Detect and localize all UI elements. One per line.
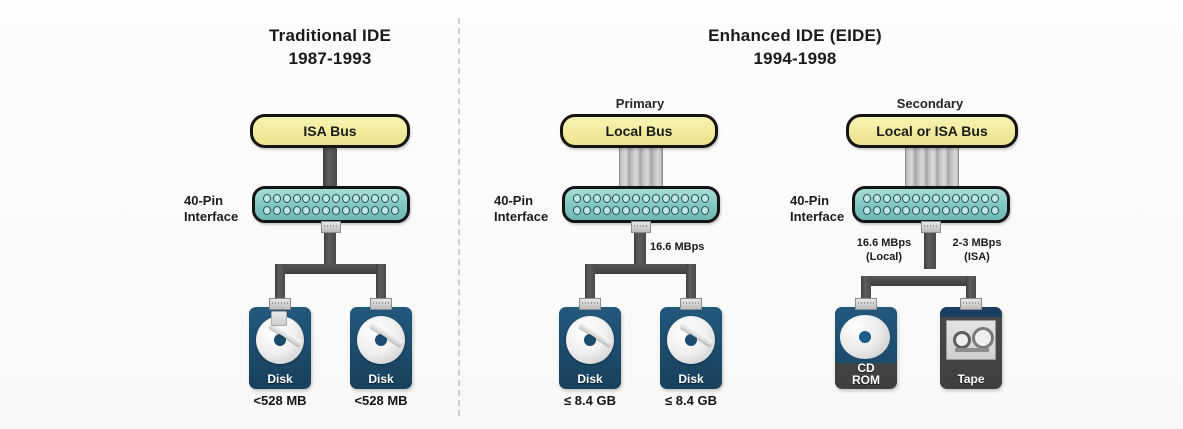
pin bbox=[952, 194, 960, 203]
pin bbox=[322, 194, 330, 203]
pin bbox=[573, 206, 581, 215]
pin-row-bottom bbox=[573, 206, 709, 215]
pin bbox=[293, 206, 301, 215]
cdrom-label-line2: ROM bbox=[835, 374, 897, 386]
primary-disk-1[interactable]: Disk bbox=[559, 307, 621, 389]
secondary-interface-label-line1: 40-Pin bbox=[790, 193, 844, 209]
pin bbox=[642, 206, 650, 215]
pin bbox=[893, 206, 901, 215]
left-disk-1-capacity: <528 MB bbox=[230, 393, 330, 408]
head-tab-icon bbox=[271, 311, 287, 326]
pin-row-bottom bbox=[263, 206, 399, 215]
pin bbox=[593, 206, 601, 215]
pin bbox=[283, 194, 291, 203]
pin bbox=[381, 194, 389, 203]
pin bbox=[273, 194, 281, 203]
pin bbox=[612, 194, 620, 203]
secondary-rate-isa: 2-3 MBps (ISA) bbox=[938, 236, 1016, 264]
primary-disk-1-label: Disk bbox=[559, 373, 621, 385]
pin bbox=[922, 206, 930, 215]
left-disk-1[interactable]: Disk bbox=[249, 307, 311, 389]
pin bbox=[662, 206, 670, 215]
pin bbox=[263, 206, 271, 215]
pin bbox=[662, 194, 670, 203]
pin bbox=[322, 206, 330, 215]
pin bbox=[863, 206, 871, 215]
secondary-interface-label: 40-Pin Interface bbox=[790, 193, 844, 225]
pin bbox=[312, 206, 320, 215]
pin bbox=[391, 206, 399, 215]
secondary-rate-isa-note: (ISA) bbox=[938, 250, 1016, 264]
pin bbox=[332, 194, 340, 203]
left-disk-1-label: Disk bbox=[249, 373, 311, 385]
pin bbox=[603, 206, 611, 215]
pin-row-top bbox=[263, 194, 399, 203]
panel-divider bbox=[458, 18, 460, 416]
primary-branch-cable bbox=[585, 264, 696, 274]
primary-interface-label-line2: Interface bbox=[494, 209, 548, 225]
left-disk1-connector bbox=[269, 298, 291, 310]
primary-40-pin-interface[interactable] bbox=[562, 186, 720, 223]
pin bbox=[981, 194, 989, 203]
tape-band bbox=[955, 348, 989, 352]
primary-disk1-connector bbox=[579, 298, 601, 310]
tape-cassette-icon bbox=[946, 320, 996, 360]
pin bbox=[863, 194, 871, 203]
left-disk-2[interactable]: Disk bbox=[350, 307, 412, 389]
tape-label: Tape bbox=[940, 373, 1002, 385]
secondary-channel-caption: Secondary bbox=[850, 96, 1010, 111]
pin bbox=[981, 206, 989, 215]
pin-row-top bbox=[863, 194, 999, 203]
pin bbox=[902, 206, 910, 215]
isa-bus-box[interactable]: ISA Bus bbox=[250, 114, 410, 148]
pin bbox=[961, 206, 969, 215]
pin-row-bottom bbox=[863, 206, 999, 215]
primary-interface-label: 40-Pin Interface bbox=[494, 193, 548, 225]
pin bbox=[293, 194, 301, 203]
cdrom-label: CD ROM bbox=[835, 362, 897, 386]
secondary-rate-isa-value: 2-3 MBps bbox=[938, 236, 1016, 250]
tape-reel-small-icon bbox=[953, 331, 971, 349]
left-interface-label-line1: 40-Pin bbox=[184, 193, 238, 209]
pin bbox=[652, 194, 660, 203]
pin bbox=[681, 206, 689, 215]
pin bbox=[573, 194, 581, 203]
secondary-branch-cable bbox=[861, 276, 976, 286]
right-panel-title-line2: 1994-1998 bbox=[630, 47, 960, 70]
primary-disk-1-capacity: ≤ 8.4 GB bbox=[540, 393, 640, 408]
pin bbox=[932, 194, 940, 203]
right-panel-title-line1: Enhanced IDE (EIDE) bbox=[630, 24, 960, 47]
left-disk-2-capacity: <528 MB bbox=[331, 393, 431, 408]
left-branch-cable bbox=[275, 264, 386, 274]
left-panel-title: Traditional IDE 1987-1993 bbox=[180, 24, 480, 70]
pin bbox=[902, 194, 910, 203]
pin bbox=[381, 206, 389, 215]
pin bbox=[622, 206, 630, 215]
left-panel-title-line1: Traditional IDE bbox=[180, 24, 480, 47]
primary-interface-connector bbox=[631, 221, 651, 233]
pin bbox=[371, 206, 379, 215]
pin bbox=[583, 194, 591, 203]
pin bbox=[691, 194, 699, 203]
pin bbox=[701, 194, 709, 203]
primary-interface-label-line1: 40-Pin bbox=[494, 193, 548, 209]
pin bbox=[671, 194, 679, 203]
pin bbox=[942, 206, 950, 215]
pin bbox=[681, 194, 689, 203]
pin bbox=[691, 206, 699, 215]
pin bbox=[632, 206, 640, 215]
secondary-rate-local: 16.6 MBps (Local) bbox=[845, 236, 923, 264]
pin bbox=[971, 194, 979, 203]
diagram-canvas: Traditional IDE 1987-1993 ISA Bus 40-Pin… bbox=[0, 0, 1183, 429]
secondary-interface-label-line2: Interface bbox=[790, 209, 844, 225]
left-interface-label: 40-Pin Interface bbox=[184, 193, 238, 225]
primary-disk-2[interactable]: Disk bbox=[660, 307, 722, 389]
tape-reel-large-icon bbox=[972, 327, 994, 349]
pin bbox=[302, 194, 310, 203]
cd-disc-icon bbox=[840, 315, 890, 359]
tape-device[interactable]: Tape bbox=[940, 307, 1002, 389]
pin bbox=[932, 206, 940, 215]
pin bbox=[622, 194, 630, 203]
right-panel-title: Enhanced IDE (EIDE) 1994-1998 bbox=[630, 24, 960, 70]
pin bbox=[273, 206, 281, 215]
pin bbox=[302, 206, 310, 215]
cdrom-device[interactable]: CD ROM bbox=[835, 307, 897, 389]
secondary-bus-label: Local or ISA Bus bbox=[876, 123, 988, 139]
pin bbox=[593, 194, 601, 203]
left-panel-title-line2: 1987-1993 bbox=[180, 47, 480, 70]
left-40-pin-interface[interactable] bbox=[252, 186, 410, 223]
pin bbox=[632, 194, 640, 203]
pin bbox=[583, 206, 591, 215]
pin bbox=[991, 206, 999, 215]
primary-channel-caption: Primary bbox=[560, 96, 720, 111]
secondary-bus-box[interactable]: Local or ISA Bus bbox=[846, 114, 1018, 148]
pin bbox=[391, 194, 399, 203]
pin bbox=[991, 194, 999, 203]
pin bbox=[361, 194, 369, 203]
pin bbox=[942, 194, 950, 203]
pin bbox=[912, 194, 920, 203]
isa-bus-label: ISA Bus bbox=[303, 123, 356, 139]
pin bbox=[312, 194, 320, 203]
pin bbox=[873, 194, 881, 203]
pin-row-top bbox=[573, 194, 709, 203]
primary-disk-2-capacity: ≤ 8.4 GB bbox=[641, 393, 741, 408]
secondary-trunk-cable bbox=[924, 231, 936, 269]
primary-bus-label: Local Bus bbox=[606, 123, 673, 139]
pin bbox=[352, 194, 360, 203]
pin bbox=[263, 194, 271, 203]
secondary-rate-local-note: (Local) bbox=[845, 250, 923, 264]
secondary-rate-local-value: 16.6 MBps bbox=[845, 236, 923, 250]
pin bbox=[922, 194, 930, 203]
pin bbox=[371, 194, 379, 203]
pin bbox=[603, 194, 611, 203]
left-interface-label-line2: Interface bbox=[184, 209, 238, 225]
pin bbox=[883, 206, 891, 215]
pin bbox=[971, 206, 979, 215]
pin bbox=[893, 194, 901, 203]
pin bbox=[952, 206, 960, 215]
pin bbox=[332, 206, 340, 215]
pin bbox=[671, 206, 679, 215]
primary-rate-label: 16.6 MBps bbox=[650, 240, 730, 254]
pin bbox=[873, 206, 881, 215]
pin bbox=[652, 206, 660, 215]
cdrom-connector bbox=[855, 298, 877, 310]
primary-disk-2-label: Disk bbox=[660, 373, 722, 385]
pin bbox=[883, 194, 891, 203]
left-disk-2-label: Disk bbox=[350, 373, 412, 385]
pin bbox=[352, 206, 360, 215]
secondary-interface-connector bbox=[921, 221, 941, 233]
left-interface-connector bbox=[321, 221, 341, 233]
primary-bus-box[interactable]: Local Bus bbox=[560, 114, 718, 148]
pin bbox=[283, 206, 291, 215]
pin bbox=[701, 206, 709, 215]
primary-disk2-connector bbox=[680, 298, 702, 310]
pin bbox=[912, 206, 920, 215]
pin bbox=[612, 206, 620, 215]
pin bbox=[342, 194, 350, 203]
cdrom-face bbox=[835, 307, 897, 363]
pin bbox=[361, 206, 369, 215]
tape-connector bbox=[960, 298, 982, 310]
pin bbox=[961, 194, 969, 203]
pin bbox=[642, 194, 650, 203]
secondary-40-pin-interface[interactable] bbox=[852, 186, 1010, 223]
left-disk2-connector bbox=[370, 298, 392, 310]
pin bbox=[342, 206, 350, 215]
